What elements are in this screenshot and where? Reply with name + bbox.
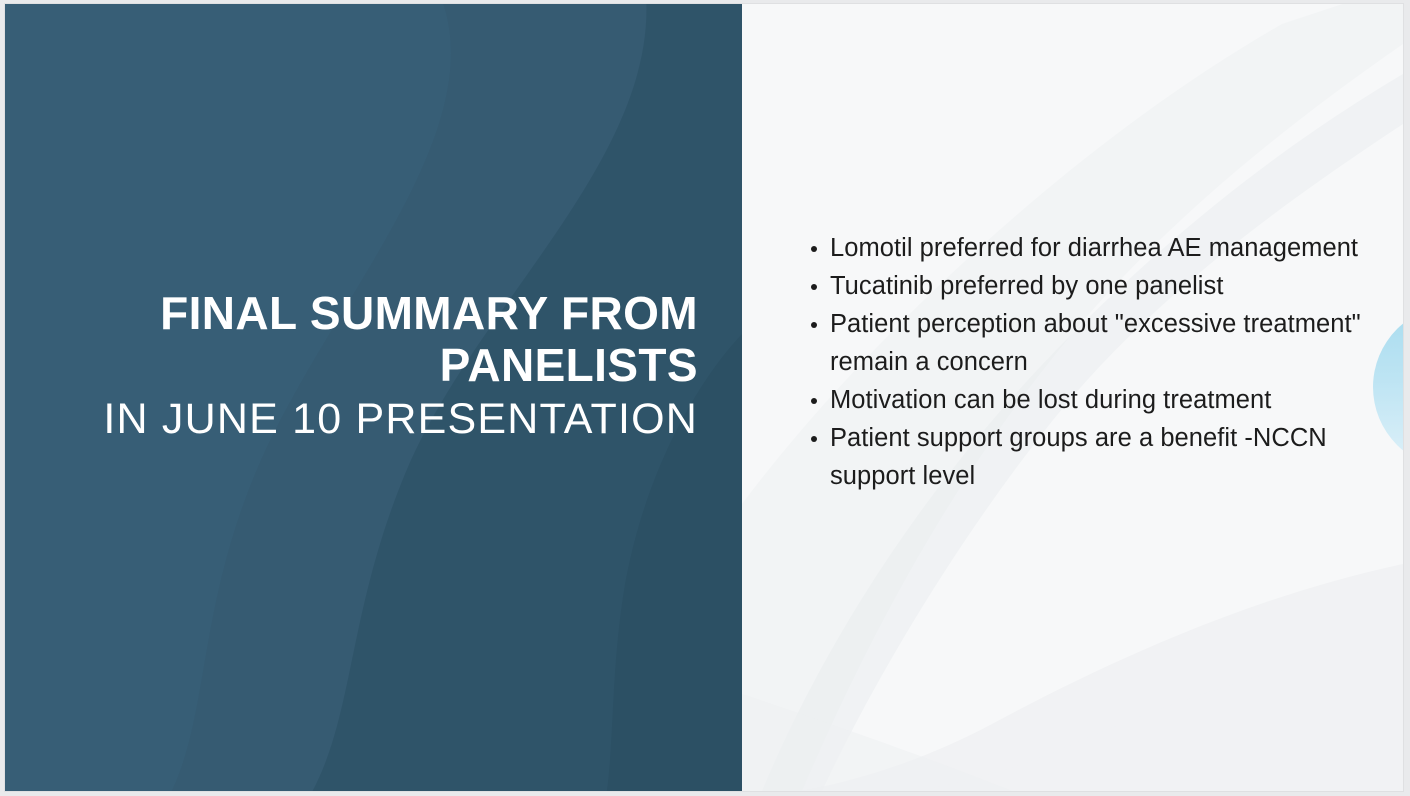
slide-canvas: FINAL SUMMARY FROM PANELISTS IN JUNE 10 … <box>5 4 1403 791</box>
slide-title-subtitle: IN JUNE 10 PRESENTATION <box>78 394 698 446</box>
slide-title-main: FINAL SUMMARY FROM PANELISTS <box>78 287 698 392</box>
slide-title-block: FINAL SUMMARY FROM PANELISTS IN JUNE 10 … <box>78 287 698 445</box>
list-item: Patient support groups are a benefit -NC… <box>808 419 1368 495</box>
list-item: Lomotil preferred for diarrhea AE manage… <box>808 229 1368 267</box>
list-item: Motivation can be lost during treatment <box>808 381 1368 419</box>
content-panel: Lomotil preferred for diarrhea AE manage… <box>742 4 1403 791</box>
list-item: Patient perception about "excessive trea… <box>808 305 1368 381</box>
content-bullet-list: Lomotil preferred for diarrhea AE manage… <box>808 229 1368 495</box>
title-panel: FINAL SUMMARY FROM PANELISTS IN JUNE 10 … <box>5 4 742 791</box>
accent-circle-decoration <box>1373 305 1403 469</box>
list-item: Tucatinib preferred by one panelist <box>808 267 1368 305</box>
